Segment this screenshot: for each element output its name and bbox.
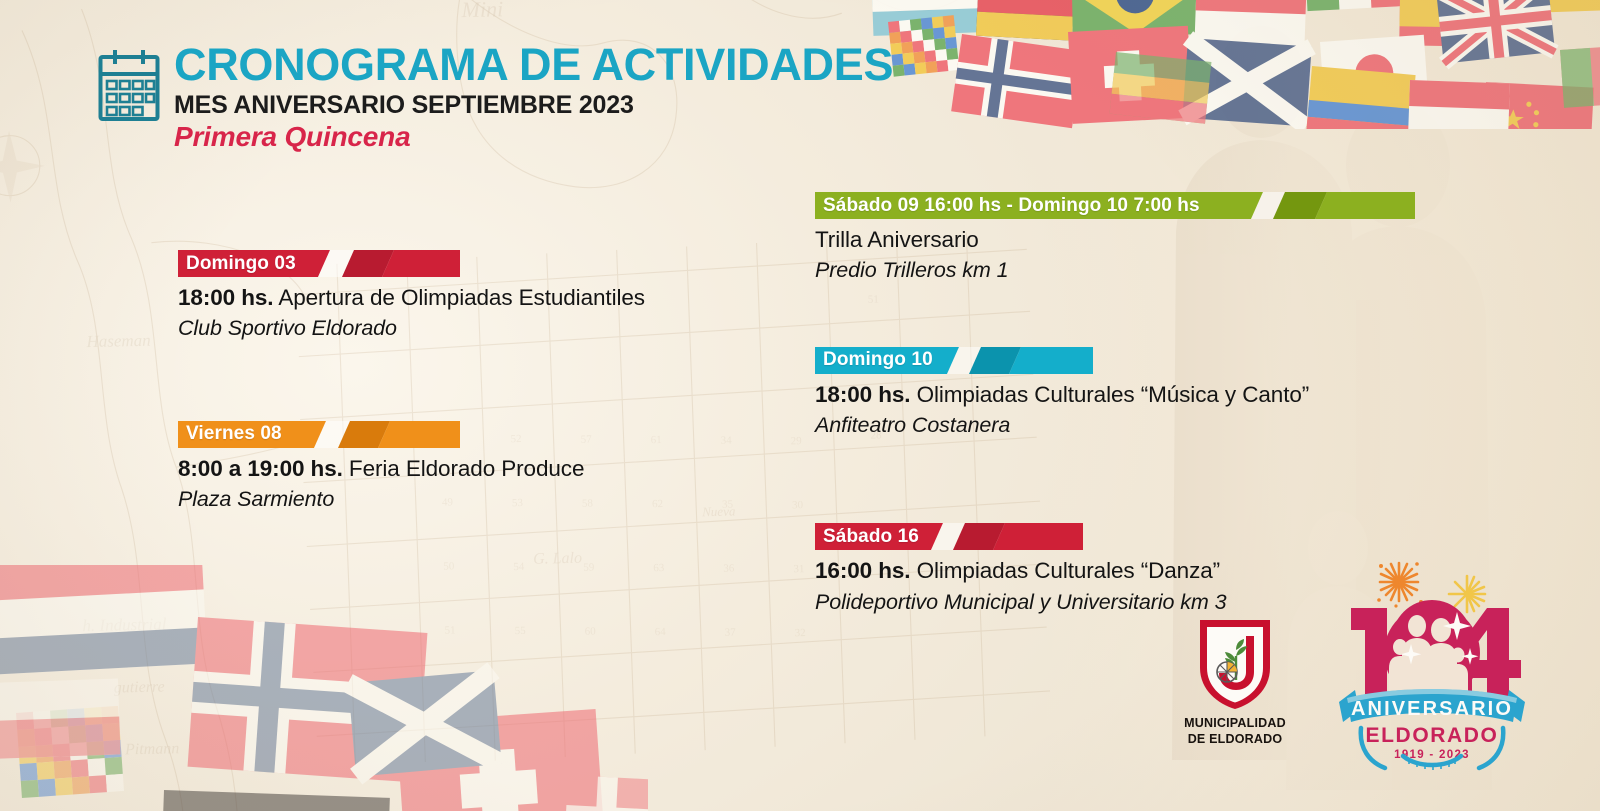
- anniversary-ribbon-text: ANIVERSARIO: [1351, 698, 1513, 720]
- anniversary-104-icon: ANIVERSARIO ELDORADO 1919 - 2023: [1337, 552, 1527, 777]
- event-banner: Sábado 16: [815, 523, 1505, 550]
- svg-text:63: 63: [653, 562, 665, 574]
- event-time: 18:00 hs.: [815, 382, 910, 407]
- event-banner: Domingo 10: [815, 347, 1505, 374]
- event-time: 16:00 hs.: [815, 558, 910, 583]
- event-venue: Anfiteatro Costanera: [815, 411, 1505, 439]
- event-time: 8:00 a 19:00 hs.: [178, 456, 343, 481]
- events-column-left: Domingo 03 18:00 hs. Apertura de Olimpia…: [178, 250, 798, 513]
- poster-header: CRONOGRAMA DE ACTIVIDADES MES ANIVERSARI…: [98, 40, 893, 153]
- page-title: CRONOGRAMA DE ACTIVIDADES: [174, 42, 893, 88]
- event-activity: Olimpiadas Culturales “Danza”: [917, 558, 1220, 583]
- municipal-name: MUNICIPALIDAD DE ELDORADO: [1176, 716, 1294, 747]
- event-item: Viernes 08 8:00 a 19:00 hs. Feria Eldora…: [178, 421, 798, 514]
- flags-collage-top-right: [870, 0, 1600, 129]
- event-item: Domingo 10 18:00 hs. Olimpiadas Cultural…: [815, 347, 1505, 440]
- event-date-label: Sábado 16: [823, 523, 919, 550]
- svg-text:36: 36: [723, 563, 735, 575]
- event-banner: Viernes 08: [178, 421, 798, 448]
- event-date-label: Domingo 10: [823, 347, 933, 374]
- event-time-activity: 8:00 a 19:00 hs. Feria Eldorado Produce: [178, 454, 798, 483]
- event-activity: Feria Eldorado Produce: [349, 456, 584, 481]
- event-time-activity: Trilla Aniversario: [815, 225, 1505, 254]
- municipal-name-line2: DE ELDORADO: [1188, 732, 1283, 746]
- poster-canvas: Mini Haseman h. Industrial gutierre Pitm…: [0, 0, 1600, 811]
- event-venue: Plaza Sarmiento: [178, 485, 798, 513]
- event-activity: Apertura de Olimpiadas Estudiantiles: [278, 285, 645, 310]
- page-subtitle: MES ANIVERSARIO SEPTIEMBRE 2023: [174, 90, 893, 120]
- anniversary-city-text: ELDORADO: [1366, 724, 1499, 747]
- svg-text:Haseman: Haseman: [85, 331, 151, 351]
- svg-text:32: 32: [795, 627, 806, 639]
- flags-collage-bottom-left: [0, 565, 648, 811]
- event-activity: Olimpiadas Culturales “Música y Canto”: [917, 382, 1310, 407]
- event-time-activity: 18:00 hs. Apertura de Olimpiadas Estudia…: [178, 283, 798, 312]
- event-time-activity: 18:00 hs. Olimpiadas Culturales “Música …: [815, 380, 1505, 409]
- page-subtitle-secondary: Primera Quincena: [174, 121, 893, 153]
- event-banner: Sábado 09 16:00 hs - Domingo 10 7:00 hs: [815, 192, 1505, 219]
- municipal-name-line1: MUNICIPALIDAD: [1184, 716, 1286, 730]
- svg-text:64: 64: [655, 626, 667, 638]
- event-time: 18:00 hs.: [178, 285, 273, 310]
- svg-text:Mini: Mini: [460, 0, 503, 22]
- event-venue: Predio Trilleros km 1: [815, 256, 1505, 284]
- event-date-label: Sábado 09 16:00 hs - Domingo 10 7:00 hs: [823, 192, 1200, 219]
- event-venue: Club Sportivo Eldorado: [178, 314, 798, 342]
- municipal-shield-icon: [1194, 616, 1276, 712]
- event-item: Domingo 03 18:00 hs. Apertura de Olimpia…: [178, 250, 798, 343]
- event-date-label: Viernes 08: [186, 421, 282, 448]
- event-date-label: Domingo 03: [186, 250, 296, 277]
- svg-text:37: 37: [725, 627, 737, 639]
- municipal-logo: MUNICIPALIDAD DE ELDORADO: [1176, 616, 1294, 747]
- svg-text:31: 31: [793, 563, 804, 575]
- calendar-icon: [98, 48, 160, 122]
- event-activity: Trilla Aniversario: [815, 227, 979, 252]
- event-banner: Domingo 03: [178, 250, 798, 277]
- event-item: Sábado 09 16:00 hs - Domingo 10 7:00 hs …: [815, 192, 1505, 285]
